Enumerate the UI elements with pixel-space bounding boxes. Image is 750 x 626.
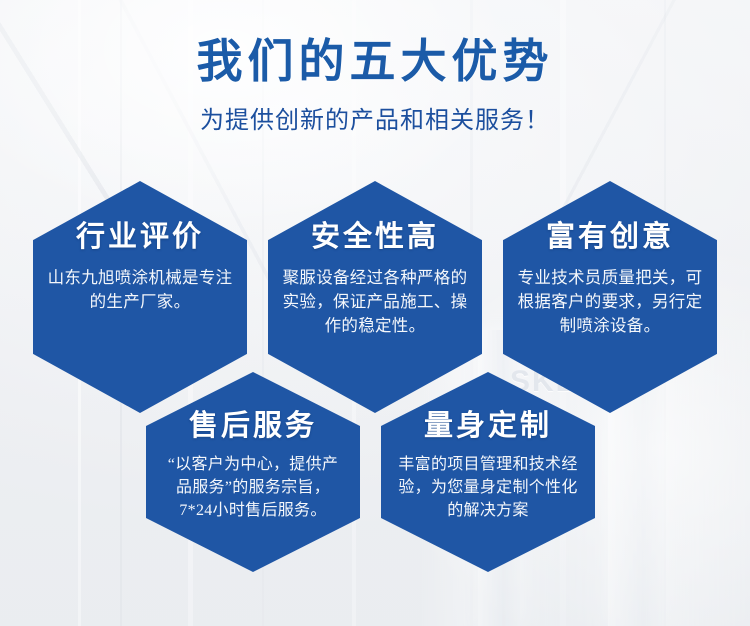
advantage-title: 量身定制 [389,412,587,441]
advantage-desc: 聚脲设备经过各种严格的实验，保证产品施工、操作的稳定性。 [276,266,474,338]
advantage-desc: 专业技术员质量把关，可根据客户的要求，另行定制喷涂设备。 [511,266,709,338]
header: 我们的五大优势 为提供创新的产品和相关服务！ [0,38,750,135]
advantage-hex-industry-evaluation[interactable]: 行业评价 山东九旭喷涂机械是专注的生产厂家。 [33,181,247,413]
advantage-desc: 山东九旭喷涂机械是专注的生产厂家。 [41,266,239,314]
advantage-title: 安全性高 [276,223,474,252]
advantage-desc: 丰富的项目管理和技术经验，为您量身定制个性化的解决方案 [389,453,587,523]
advantage-title: 富有创意 [511,223,709,252]
page-subtitle: 为提供创新的产品和相关服务！ [0,100,750,135]
page-title: 我们的五大优势 [0,38,750,86]
promo-banner: SKL 我们的五大优势 为提供创新的产品和相关服务！ 行业评价 山东九旭喷涂机械… [0,0,750,626]
advantage-hex-after-sales-service[interactable]: 售后服务 “以客户为中心，提供产品服务”的服务宗旨，7*24小时售后服务。 [146,372,360,572]
advantage-title: 行业评价 [41,223,239,252]
advantage-desc: “以客户为中心，提供产品服务”的服务宗旨，7*24小时售后服务。 [154,453,352,523]
advantage-title: 售后服务 [154,412,352,441]
